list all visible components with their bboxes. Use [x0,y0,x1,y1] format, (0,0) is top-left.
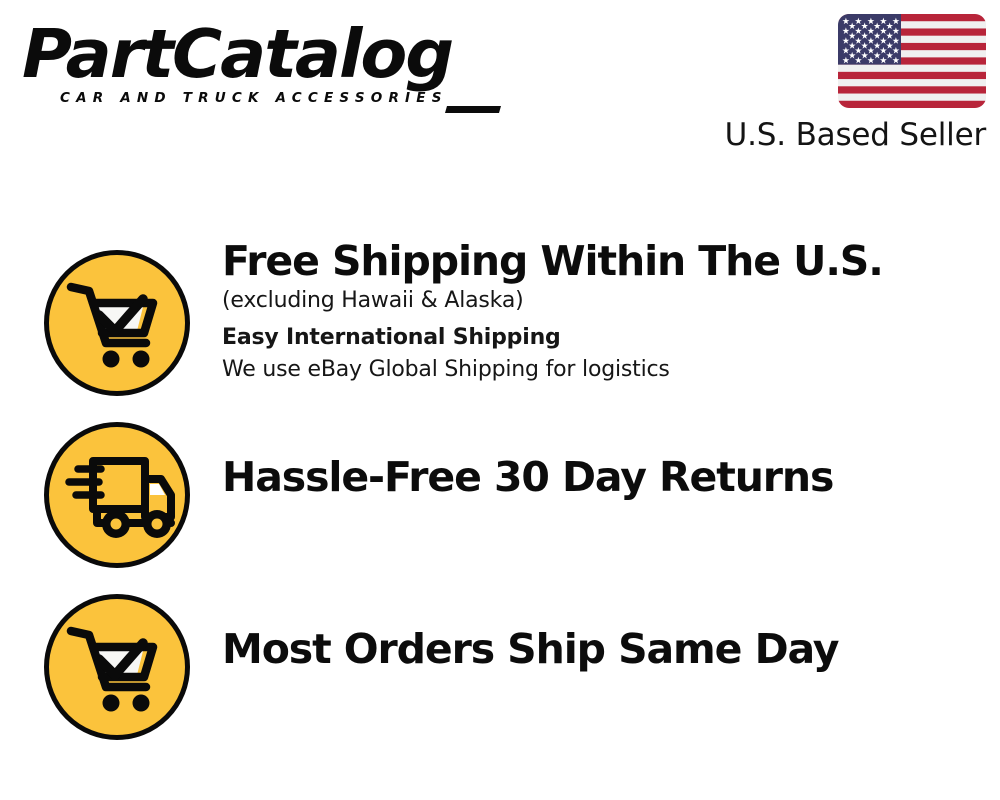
feature-subtext-logistics: We use eBay Global Shipping for logistic… [222,354,982,386]
feature-text-block: Most Orders Ship Same Day [222,625,982,673]
feature-row-returns: Hassle-Free 30 Day Returns [0,415,1000,587]
delivery-truck-icon [44,422,190,568]
feature-heading: Most Orders Ship Same Day [222,625,982,673]
feature-text-block: Free Shipping Within The U.S. (excluding… [222,237,982,386]
brand-underline-accent [445,106,501,113]
feature-list: Free Shipping Within The U.S. (excluding… [0,243,1000,759]
feature-subtext-exclusions: (excluding Hawaii & Alaska) [222,285,982,317]
shopping-cart-check-icon [44,594,190,740]
brand-wordmark: PartCatalog [22,18,501,90]
shopping-cart-check-icon [44,250,190,396]
brand-logo[interactable]: PartCatalog CAR AND TRUCK ACCESSORIES [22,18,492,113]
feature-heading: Hassle-Free 30 Day Returns [222,453,982,501]
feature-row-same-day-ship: Most Orders Ship Same Day [0,587,1000,759]
feature-text-block: Hassle-Free 30 Day Returns [222,453,982,501]
feature-row-free-shipping: Free Shipping Within The U.S. (excluding… [0,243,1000,415]
brand-tagline: CAR AND TRUCK ACCESSORIES [60,90,448,106]
page-header: PartCatalog CAR AND TRUCK ACCESSORIES [0,0,1000,175]
us-flag-icon [838,14,986,108]
feature-subtext-international-heading: Easy International Shipping [222,317,982,354]
feature-heading: Free Shipping Within The U.S. [222,237,982,285]
us-based-seller-label: U.S. Based Seller [725,116,986,154]
